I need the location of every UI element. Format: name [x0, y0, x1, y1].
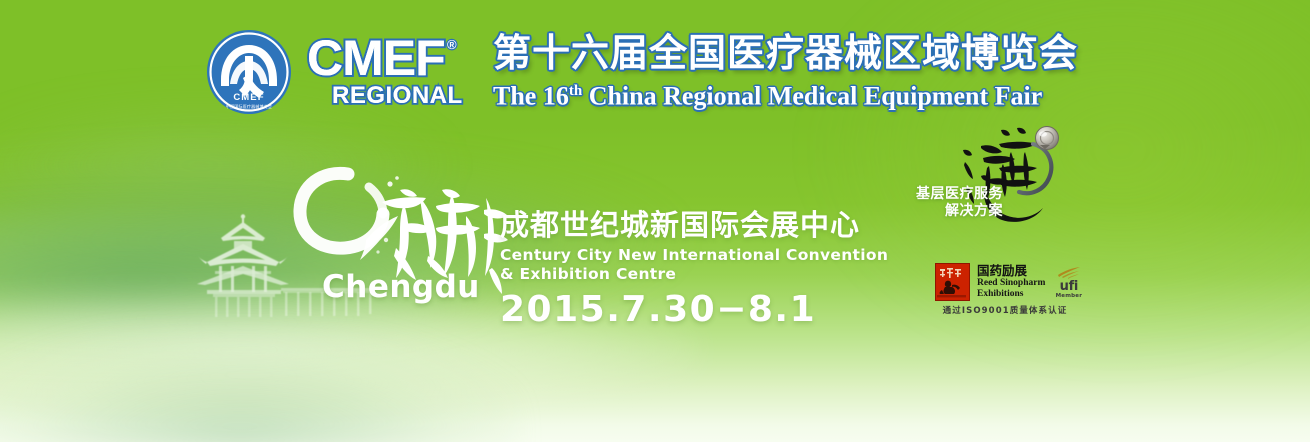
- chengdu-label-en: Chengdu: [322, 269, 480, 305]
- organiser-strip: 国药励展 Reed Sinopharm Exhibitions ufi Memb…: [935, 263, 1075, 317]
- cmef-regional-wordmark: CMEF CMEF ® REGIONAL REGIONAL: [307, 33, 467, 111]
- ufi-swoosh-icon: [1056, 266, 1082, 279]
- venue-name-en-line1: Century City New International Conventio…: [500, 246, 888, 265]
- fair-title-en: The 16th China Regional Medical Equipmen…: [493, 76, 1078, 112]
- fair-title-cn: 第十六届全国医疗器械区域博览会: [493, 32, 1078, 74]
- svg-text:CMEF: CMEF: [233, 92, 264, 103]
- fair-title-en-before: The 16: [493, 82, 569, 111]
- svg-text:CMEF: CMEF: [307, 33, 445, 86]
- organiser-name-en-line1: Reed Sinopharm: [977, 278, 1045, 289]
- venue-name-en-line2: & Exhibition Centre: [500, 265, 888, 284]
- forum-tagline-line2: 解决方案: [903, 203, 1003, 220]
- fair-title-block: 第十六届全国医疗器械区域博览会 The 16th China Regional …: [493, 32, 1078, 112]
- forum-tagline: 基层医疗服务 解决方案: [903, 186, 1003, 220]
- fair-title-en-sup: th: [569, 83, 582, 99]
- venue-block: 成都世纪城新国际会展中心 Century City New Internatio…: [500, 208, 888, 330]
- banner-header: CMEF 中国国际医疗器械博览会 CMEF CMEF ® REGIONAL RE…: [205, 28, 1078, 116]
- cmef-emblem-icon: CMEF 中国国际医疗器械博览会: [205, 28, 293, 116]
- venue-name-en: Century City New International Conventio…: [500, 246, 888, 284]
- ufi-logo: ufi Member: [1052, 263, 1085, 300]
- fair-title-en-after: China Regional Medical Equipment Fair: [582, 82, 1042, 111]
- organiser-name-cn: 国药励展: [977, 264, 1045, 277]
- svg-text:®: ®: [447, 37, 457, 52]
- sinopharm-red-seal-icon: [935, 263, 970, 301]
- ufi-member-label: Member: [1052, 293, 1085, 300]
- forum-tagline-line1: 基层医疗服务: [903, 186, 1003, 203]
- cmef-regional-banner: Chengdu CMEF 中国国际医疗器械博览会 CMEF CMEF ®: [0, 0, 1310, 442]
- venue-name-cn: 成都世纪城新国际会展中心: [500, 208, 888, 242]
- iso-certification-label: 通过ISO9001质量体系认证: [935, 306, 1075, 317]
- organiser-names: 国药励展 Reed Sinopharm Exhibitions: [977, 263, 1045, 299]
- background-hill-silhouette: [0, 330, 520, 442]
- svg-text:REGIONAL: REGIONAL: [332, 82, 463, 109]
- organiser-name-en-line2: Exhibitions: [977, 289, 1045, 300]
- svg-text:中国国际医疗器械博览会: 中国国际医疗器械博览会: [226, 103, 272, 109]
- event-dates: 2015.7.30−8.1: [500, 290, 888, 330]
- organiser-row: 国药励展 Reed Sinopharm Exhibitions ufi Memb…: [935, 263, 1075, 301]
- ufi-name: ufi: [1052, 280, 1085, 293]
